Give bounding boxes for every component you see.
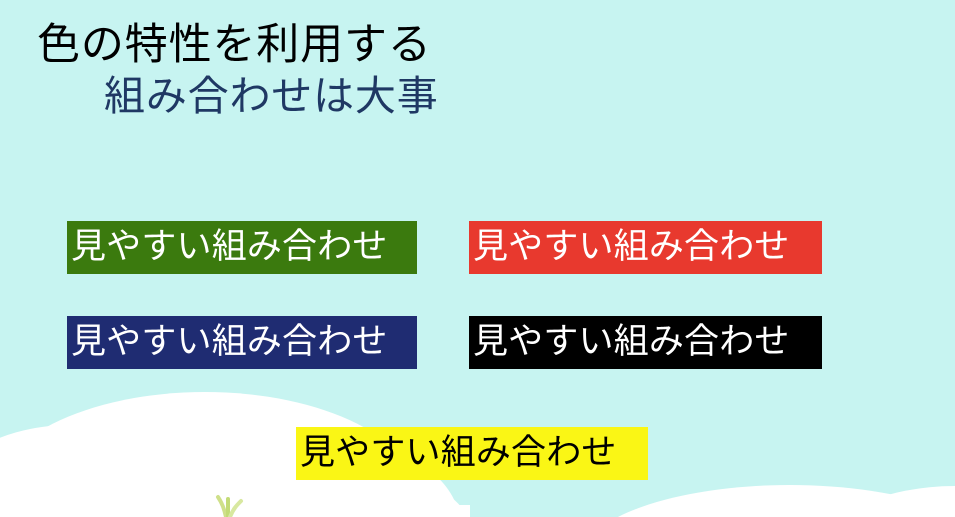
color-sample-navy-on-white-text: 見やすい組み合わせ: [67, 316, 417, 369]
color-sample-label: 見やすい組み合わせ: [300, 435, 617, 470]
color-sample-label: 見やすい組み合わせ: [71, 229, 388, 264]
sprout-icon: [218, 497, 241, 517]
color-sample-label: 見やすい組み合わせ: [473, 229, 790, 264]
color-sample-black-on-white-text: 見やすい組み合わせ: [469, 316, 822, 369]
color-sample-yellow-on-black-text: 見やすい組み合わせ: [296, 427, 648, 480]
slide-canvas: 色の特性を利用する 組み合わせは大事 見やすい組み合わせ 見やすい組み合わせ 見…: [0, 0, 955, 517]
color-sample-label: 見やすい組み合わせ: [71, 324, 388, 359]
page-title-line-1: 色の特性を利用する: [0, 22, 955, 68]
page-title-line-2: 組み合わせは大事: [0, 74, 955, 118]
color-sample-label: 見やすい組み合わせ: [473, 324, 790, 359]
cloud-shape-right: [580, 485, 955, 517]
slide-title: 色の特性を利用する 組み合わせは大事: [0, 22, 955, 119]
color-sample-green-on-white-text: 見やすい組み合わせ: [67, 221, 417, 274]
color-sample-red-on-white-text: 見やすい組み合わせ: [469, 221, 822, 274]
